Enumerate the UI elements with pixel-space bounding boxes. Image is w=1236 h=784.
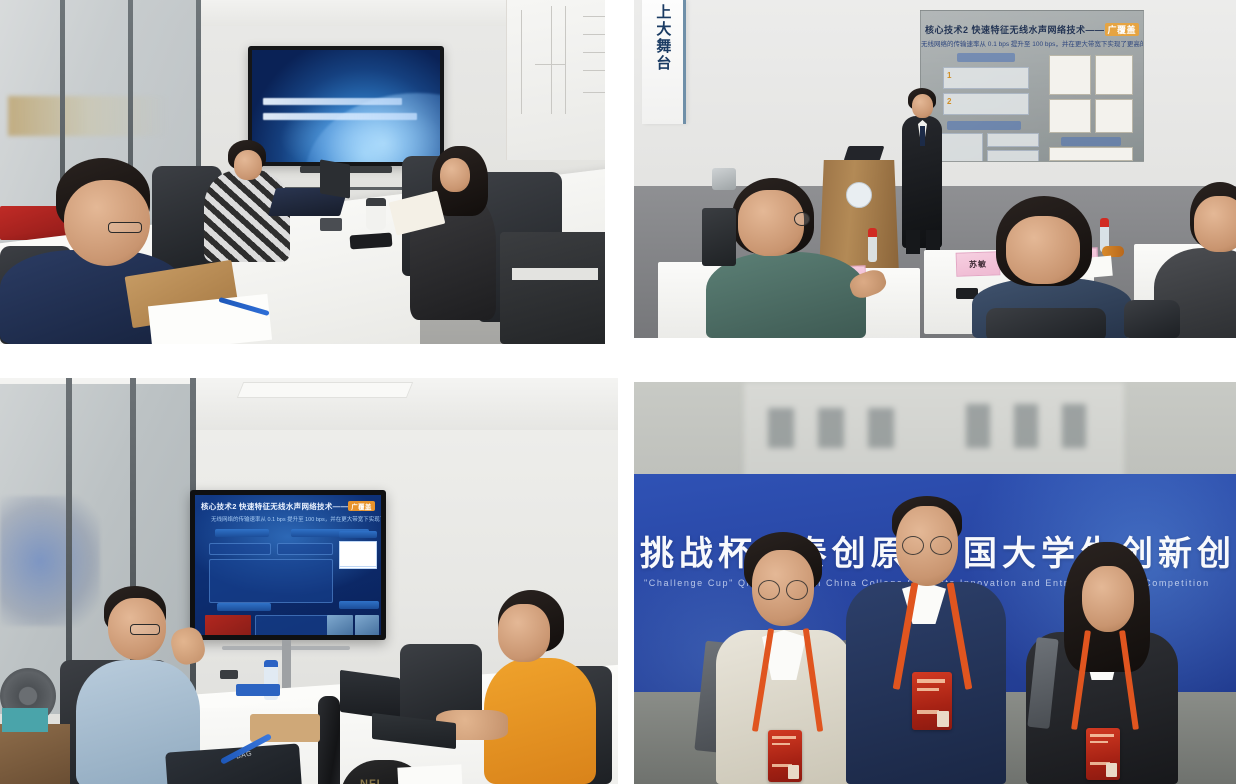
slide-item-2	[943, 93, 1029, 115]
slide-photo	[937, 133, 983, 162]
slide-chip	[339, 601, 379, 609]
slide-title-badge: 广覆盖	[348, 501, 374, 511]
competition-presentation-scene: 上大舞台 核心技术2 快速特征无线水声网络技术——广覆盖 无线网络的传输速率从 …	[634, 0, 1236, 338]
slide-title-text: 核心技术2 快速特征无线水声网络技术——	[925, 25, 1105, 35]
water-bottle	[868, 228, 877, 262]
slide-text-line-2	[263, 113, 417, 120]
slide-body-left	[209, 559, 333, 603]
whiteboard	[506, 0, 605, 160]
slide-item-1	[209, 543, 271, 555]
blue-folder	[236, 684, 280, 696]
slide-red-image	[205, 615, 251, 635]
slide-chart-3	[1049, 99, 1091, 133]
slide-photo-1	[327, 615, 353, 635]
glasses-icon	[108, 222, 142, 233]
monitor	[340, 670, 400, 720]
vertical-wall-banner: 上大舞台	[642, 0, 686, 124]
slide-section-header	[1061, 137, 1121, 146]
slide-title-badge: 广覆盖	[1105, 23, 1140, 36]
slide-chip	[217, 603, 271, 611]
glass-reflection	[0, 496, 100, 626]
slide-subtitle: 无线网络的传输速率从 0.1 bps 提升至 100 bps，并在更大带宽下实现…	[921, 38, 1143, 48]
storage-box	[2, 708, 48, 732]
slide-chip	[215, 529, 269, 537]
photo-grid-page: 上大舞台 核心技术2 快速特征无线水声网络技术——广覆盖 无线网络的传输速率从 …	[0, 0, 1236, 784]
ceiling-light-panel	[237, 382, 413, 398]
glasses-icon	[794, 212, 810, 226]
team-photo-scene: 挑战杯" 秦创原 中国大学生创新创业大赛 "Challenge Cup" Qin…	[634, 382, 1236, 784]
slide-photo-2	[355, 615, 379, 635]
small-device	[320, 218, 342, 231]
vertical-banner-text: 上大舞台	[655, 4, 671, 72]
slide-body-lower-left	[255, 615, 333, 635]
television-screen	[252, 50, 440, 162]
judge-name-card-2: 苏敏	[956, 251, 1001, 277]
projection-screen: 核心技术2 快速特征无线水声网络技术——广覆盖 无线网络的传输速率从 0.1 b…	[920, 10, 1144, 162]
small-device	[220, 670, 238, 679]
slide-chart-2	[339, 541, 377, 567]
television-screen: 核心技术2 快速特征无线水声网络技术——广覆盖 无线网络的传输速率从 0.1 b…	[195, 495, 381, 635]
podium-emblem	[846, 182, 872, 208]
presenter-tie	[920, 126, 925, 146]
slide-item-number-1: 1	[947, 71, 951, 80]
glasses-icon	[786, 580, 808, 600]
coffee-cup	[366, 198, 386, 230]
audience-chair	[1124, 300, 1180, 338]
slide-item-2	[277, 543, 333, 555]
slide-bullet	[987, 133, 1039, 147]
slide-title: 核心技术2 快速特征无线水声网络技术——广覆盖	[201, 501, 375, 512]
slide-chart-4	[1095, 99, 1133, 133]
glasses-icon	[930, 536, 952, 555]
slide-title: 核心技术2 快速特征无线水声网络技术——广覆盖	[921, 23, 1143, 36]
slide-section-header	[957, 53, 1015, 62]
slide-chart-5	[1049, 147, 1133, 161]
photo-top-left[interactable]	[0, 0, 605, 344]
paper-sheet	[397, 764, 462, 784]
office-meeting-scene	[0, 0, 605, 344]
equipment-cart	[702, 208, 736, 266]
equipment-case-label	[512, 268, 598, 280]
wall-mounted-television	[248, 46, 444, 166]
participant-badge	[768, 730, 802, 782]
photo-bottom-left[interactable]: 核心技术2 快速特征无线水声网络技术——广覆盖 无线网络的传输速率从 0.1 b…	[0, 378, 618, 784]
wall-mounted-television: 核心技术2 快速特征无线水声网络技术——广覆盖 无线网络的传输速率从 0.1 b…	[190, 490, 386, 640]
slide-title-text: 核心技术2 快速特征无线水声网络技术——	[201, 502, 348, 511]
participant-badge	[1086, 728, 1120, 780]
slide-bullet	[987, 150, 1039, 162]
tv-stand-pole	[282, 640, 291, 688]
equipment-case	[500, 232, 605, 344]
slide-section-header	[947, 121, 1021, 130]
water-kettle	[712, 168, 736, 190]
storage-shelf	[0, 724, 70, 784]
audience-chair	[986, 308, 1106, 338]
slide-chart-2	[1095, 55, 1133, 95]
monitor	[320, 159, 350, 198]
slide-item-1	[943, 67, 1029, 89]
photo-bottom-right[interactable]: 挑战杯" 秦创原 中国大学生创新创业大赛 "Challenge Cup" Qin…	[634, 382, 1236, 784]
office-discussion-scene: 核心技术2 快速特征无线水声网络技术——广覆盖 无线网络的传输速率从 0.1 b…	[0, 378, 618, 784]
participant-badge	[912, 672, 952, 730]
glass-reflection	[8, 96, 168, 136]
slide-chart-1	[1049, 55, 1091, 95]
glasses-icon	[758, 580, 780, 600]
black-insulated-bottle	[318, 696, 340, 784]
glasses-icon	[130, 624, 160, 635]
cap-logo-text: NFL	[360, 778, 384, 784]
slide-chip	[339, 531, 377, 538]
smartphone	[350, 233, 393, 250]
photo-top-right[interactable]: 上大舞台 核心技术2 快速特征无线水声网络技术——广覆盖 无线网络的传输速率从 …	[634, 0, 1236, 338]
slide-subtitle: 无线网络的传输速率从 0.1 bps 提升至 100 bps，并在更大带宽下实现…	[211, 515, 373, 523]
podium-laptop	[844, 146, 885, 161]
glasses-icon	[902, 536, 924, 555]
slide-item-number-2: 2	[947, 97, 951, 106]
slide-text-line-1	[263, 98, 402, 105]
